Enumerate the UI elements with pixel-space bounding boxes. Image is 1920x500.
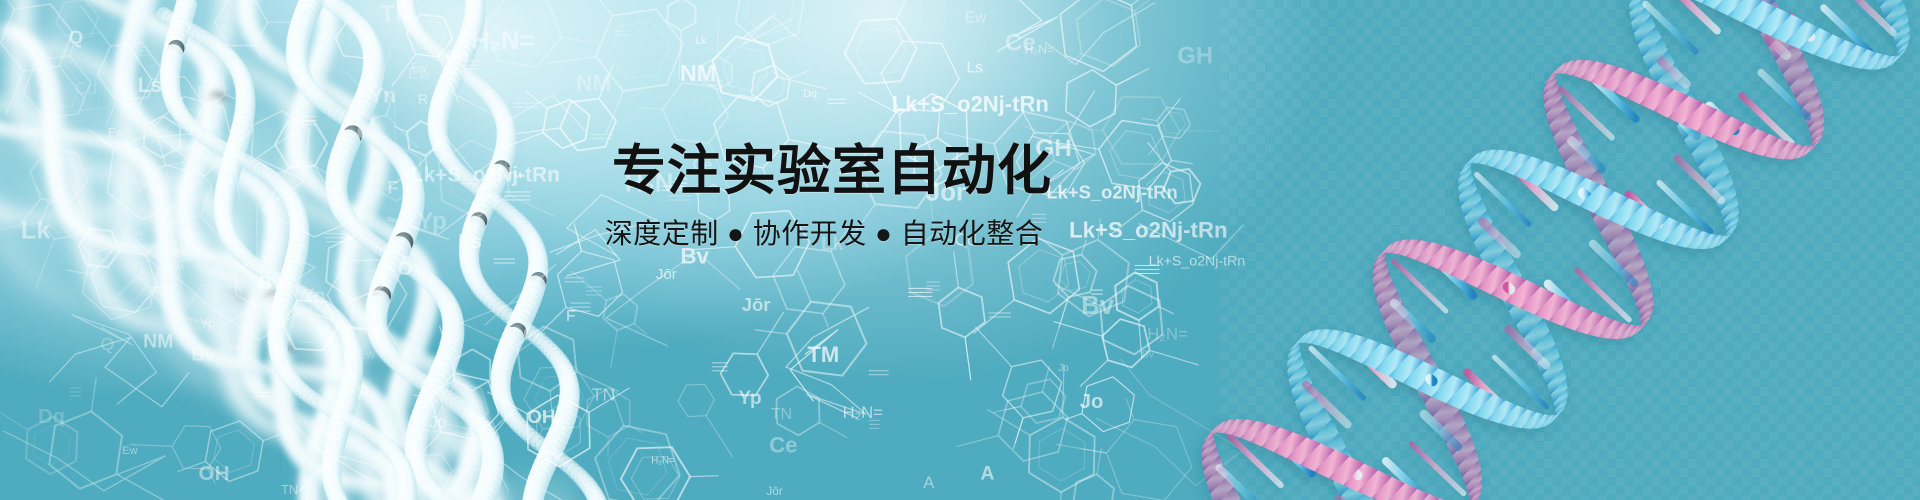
ribbon-dna-helix-artwork	[0, 0, 1920, 500]
hero-banner: EwCeEwRFBvLsLkYpH₂N≡QRYpCeBvLkNMCdOH₂N=T…	[0, 0, 1920, 500]
